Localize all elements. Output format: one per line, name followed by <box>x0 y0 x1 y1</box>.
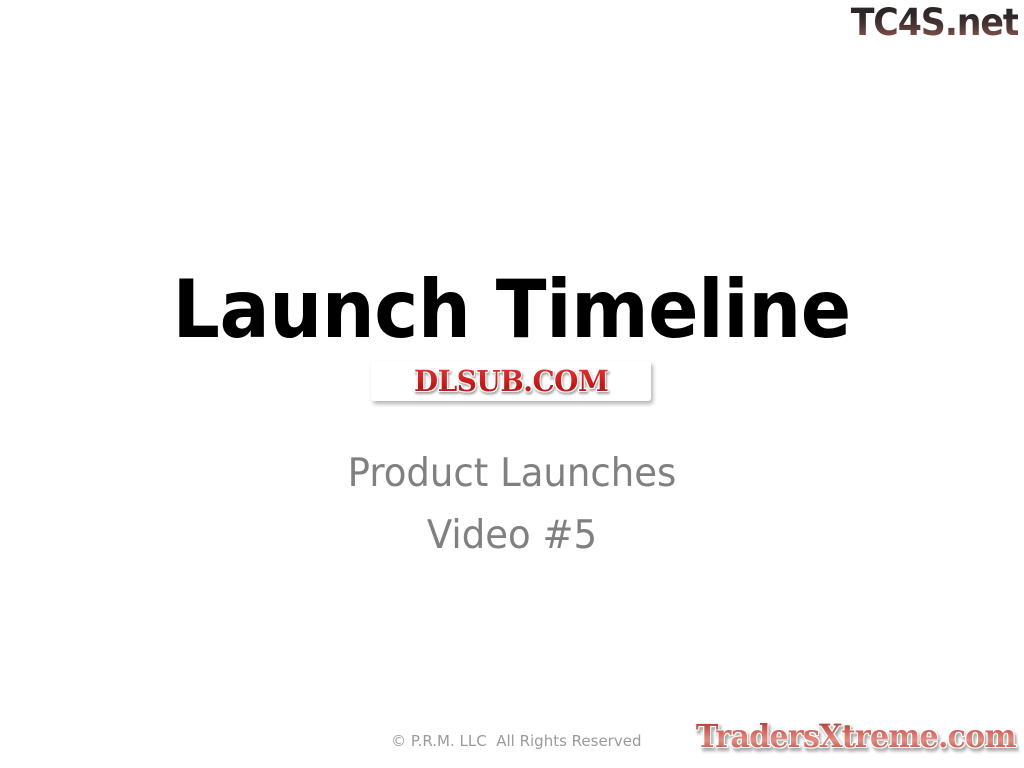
page-title: Launch Timeline <box>173 268 851 352</box>
title-block: Launch Timeline <box>0 268 1024 352</box>
subtitle-line-video-number: Video #5 <box>26 505 999 567</box>
dlsub-watermark-text: DLSUB.COM <box>414 366 608 396</box>
slide-canvas: TC4S.net Launch Timeline DLSUB.COM Produ… <box>0 0 1024 768</box>
subtitle-line-product-launches: Product Launches <box>26 443 999 505</box>
subtitle-block: Product Launches Video #5 <box>0 443 1024 567</box>
dlsub-watermark-badge: DLSUB.COM <box>371 361 651 401</box>
tradersxtreme-logo: TradersXtreme.com <box>696 718 1016 754</box>
footer-copyright-text: © P.R.M. LLC All Rights Reserved <box>391 730 641 752</box>
tc4s-watermark-logo: TC4S.net <box>850 2 1018 44</box>
